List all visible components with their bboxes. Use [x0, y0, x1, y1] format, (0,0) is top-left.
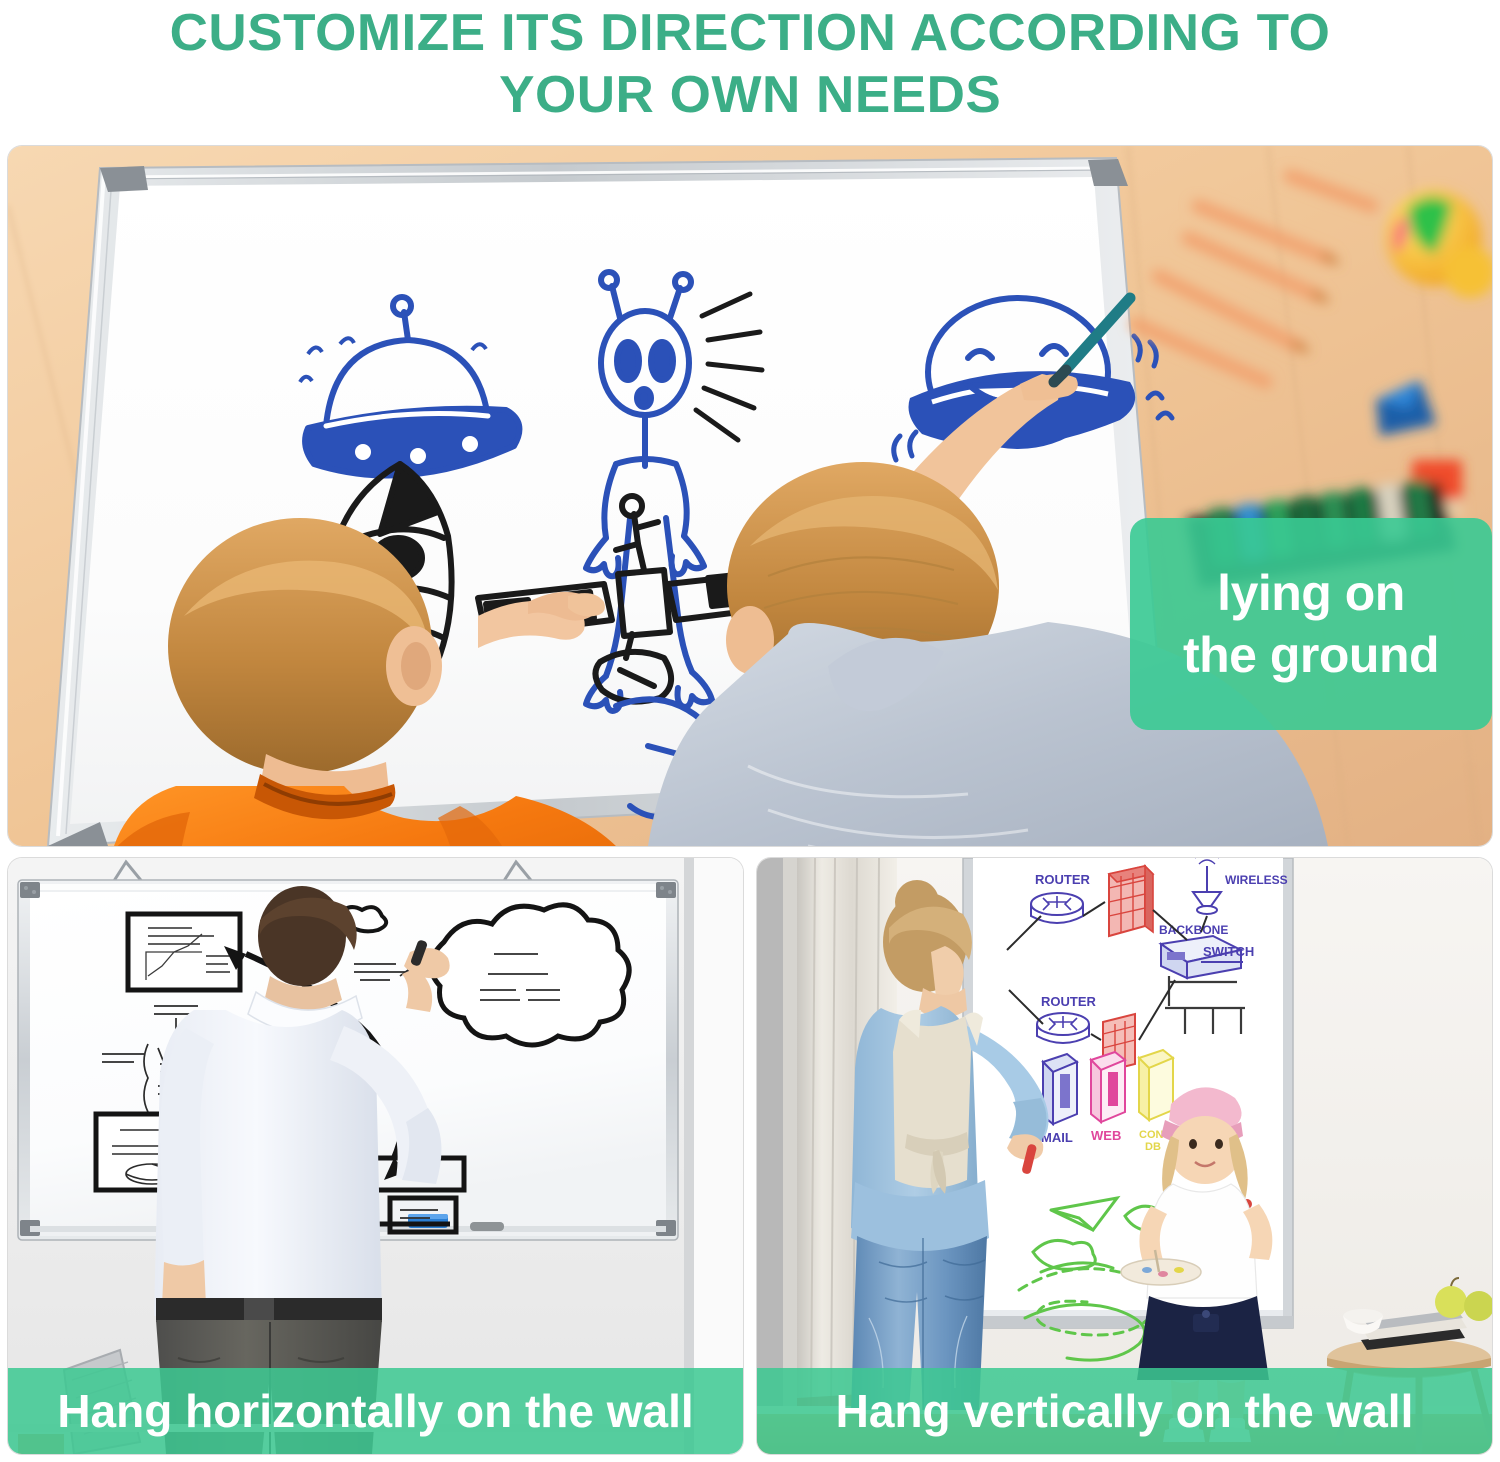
product-marketing-image: CUSTOMIZE ITS DIRECTION ACCORDING TO YOU… [0, 0, 1500, 1462]
server-mail [1043, 1054, 1077, 1124]
hang-vertically-panel: ROUTER [757, 858, 1492, 1454]
board-note-chart-box [128, 914, 240, 990]
router-bottom-label: ROUTER [1041, 994, 1097, 1009]
web-label: WEB [1091, 1128, 1121, 1143]
hang-horizontally-panel [8, 858, 743, 1454]
server-content-db [1139, 1050, 1173, 1120]
headline-line-1: CUSTOMIZE ITS DIRECTION ACCORDING TO [170, 2, 1331, 64]
hang-vertically-scene: ROUTER [757, 858, 1492, 1454]
hang-horizontally-caption-bar: Hang horizontally on the wall [8, 1368, 743, 1454]
hang-vertically-caption-bar: Hang vertically on the wall [757, 1368, 1492, 1454]
badge-line-2: the ground [1183, 624, 1439, 686]
headline-line-2: YOUR OWN NEEDS [499, 64, 1001, 126]
page-headline: CUSTOMIZE ITS DIRECTION ACCORDING TO YOU… [0, 0, 1500, 140]
hang-horizontally-scene [8, 858, 743, 1454]
svg-text:DB: DB [1145, 1141, 1161, 1153]
marker [470, 1222, 504, 1231]
board-corner-bracket [100, 166, 148, 192]
firewall-top-icon [1109, 866, 1153, 936]
badge-line-1: lying on [1217, 562, 1405, 624]
wireless-label: WIRELESS [1225, 873, 1288, 887]
router-top-label: ROUTER [1035, 872, 1091, 887]
hang-vertically-caption-text: Hang vertically on the wall [836, 1384, 1414, 1438]
switch-label: SWITCH [1203, 944, 1254, 959]
server-web [1091, 1052, 1125, 1122]
lying-on-ground-scene [8, 146, 1492, 846]
hang-horizontally-caption-text: Hang horizontally on the wall [57, 1384, 693, 1438]
lying-on-ground-badge: lying on the ground [1130, 518, 1492, 730]
lying-on-the-ground-panel: lying on the ground [8, 146, 1492, 846]
